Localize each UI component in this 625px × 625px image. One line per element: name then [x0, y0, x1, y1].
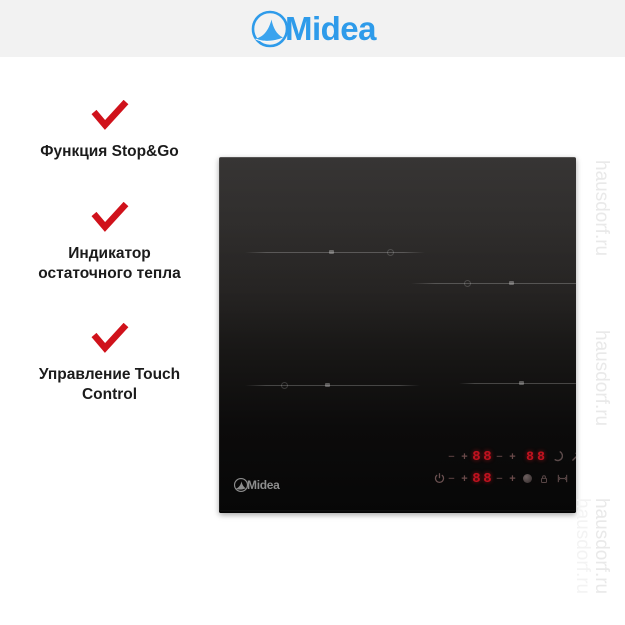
plus-button-upper-right[interactable]: +: [506, 451, 519, 463]
feature-label-line-2: остаточного тепла: [38, 265, 180, 282]
cooktop-left-edge: [219, 157, 220, 513]
power-level-digit-2: 8: [482, 450, 493, 464]
feature-item-residual-heat-indicator: Индикатор остаточного тепла: [0, 202, 219, 284]
minus-button-lower-right[interactable]: −: [493, 473, 506, 485]
timer-digit-1: 8: [525, 450, 535, 463]
pause-stopgo-icon[interactable]: [550, 449, 565, 464]
bridge-zone-icon[interactable]: [555, 471, 570, 486]
cooktop-brand-logo: Midea: [233, 477, 280, 493]
plus-button-upper[interactable]: +: [458, 451, 471, 463]
red-check-icon: [91, 323, 129, 353]
power-level-digit-4: 8: [482, 472, 493, 486]
feature-item-stop-and-go: Функция Stop&Go: [0, 100, 219, 162]
feature-item-touch-control: Управление Touch Control: [0, 323, 219, 405]
power-level-digit-1: 8: [471, 450, 482, 464]
upper-zone-control-row[interactable]: − + 8 8 − + 8 8: [433, 449, 576, 464]
zone-marker-rear-right: [411, 283, 576, 284]
touch-control-panel[interactable]: − + 8 8 − + 8 8: [433, 449, 567, 493]
lower-zone-control-row[interactable]: − + 8 8 − +: [433, 471, 570, 486]
feature-label: Функция Stop&Go: [40, 142, 179, 162]
minus-button-upper[interactable]: −: [445, 451, 458, 463]
watermark: hausdorf.ru: [590, 160, 612, 256]
zone-marker-front-left: [245, 385, 420, 386]
watermark: hausdorf.ru: [590, 330, 612, 426]
red-check-icon: [91, 100, 129, 130]
brand-header: Midea: [0, 0, 625, 57]
feature-label-line-1: Индикатор: [68, 245, 151, 262]
zone-end-tick: [387, 249, 394, 256]
timer-digit-2: 8: [536, 450, 546, 463]
feature-label-line-2: Control: [82, 386, 137, 403]
watermark: hausdorf.ru: [590, 498, 612, 594]
cooktop-bottom-edge: [219, 510, 576, 513]
zone-center-marker: [325, 383, 330, 387]
zone-center-marker: [329, 250, 334, 254]
timer-display: 8 8: [525, 450, 546, 463]
zone-end-tick: [281, 382, 288, 389]
surface-sheen: [219, 157, 576, 342]
cooktop-wordmark: Midea: [247, 478, 280, 492]
midea-logo: Midea: [249, 7, 376, 51]
timer-dial-icon[interactable]: [523, 474, 532, 483]
feature-label: Управление Touch Control: [39, 365, 180, 405]
feature-list: Функция Stop&Go Индикатор остаточного те…: [0, 100, 219, 431]
minus-button-lower[interactable]: −: [445, 473, 458, 485]
power-icon[interactable]: [433, 473, 445, 485]
feature-label-line-1: Управление Touch: [39, 366, 180, 383]
boost-arrow-icon[interactable]: [569, 449, 576, 464]
lock-icon[interactable]: [536, 471, 551, 486]
plus-button-lower-right[interactable]: +: [506, 473, 519, 485]
red-check-icon: [91, 202, 129, 232]
zone-center-marker: [519, 381, 524, 385]
zone-marker-front-right: [459, 383, 576, 384]
induction-cooktop: Midea − + 8 8 − + 8 8: [219, 157, 576, 513]
cooktop-top-edge: [219, 157, 576, 158]
power-level-digit-3: 8: [471, 472, 482, 486]
spacer: [433, 451, 445, 463]
minus-button-upper-right[interactable]: −: [493, 451, 506, 463]
zone-center-marker: [509, 281, 514, 285]
zone-marker-rear-left: [245, 252, 425, 253]
plus-button-lower[interactable]: +: [458, 473, 471, 485]
midea-wordmark: Midea: [285, 12, 376, 45]
product-banner: Midea Функция Stop&Go Индикатор остаточн…: [0, 0, 625, 625]
feature-label: Индикатор остаточного тепла: [38, 244, 180, 284]
zone-end-tick: [464, 280, 471, 287]
